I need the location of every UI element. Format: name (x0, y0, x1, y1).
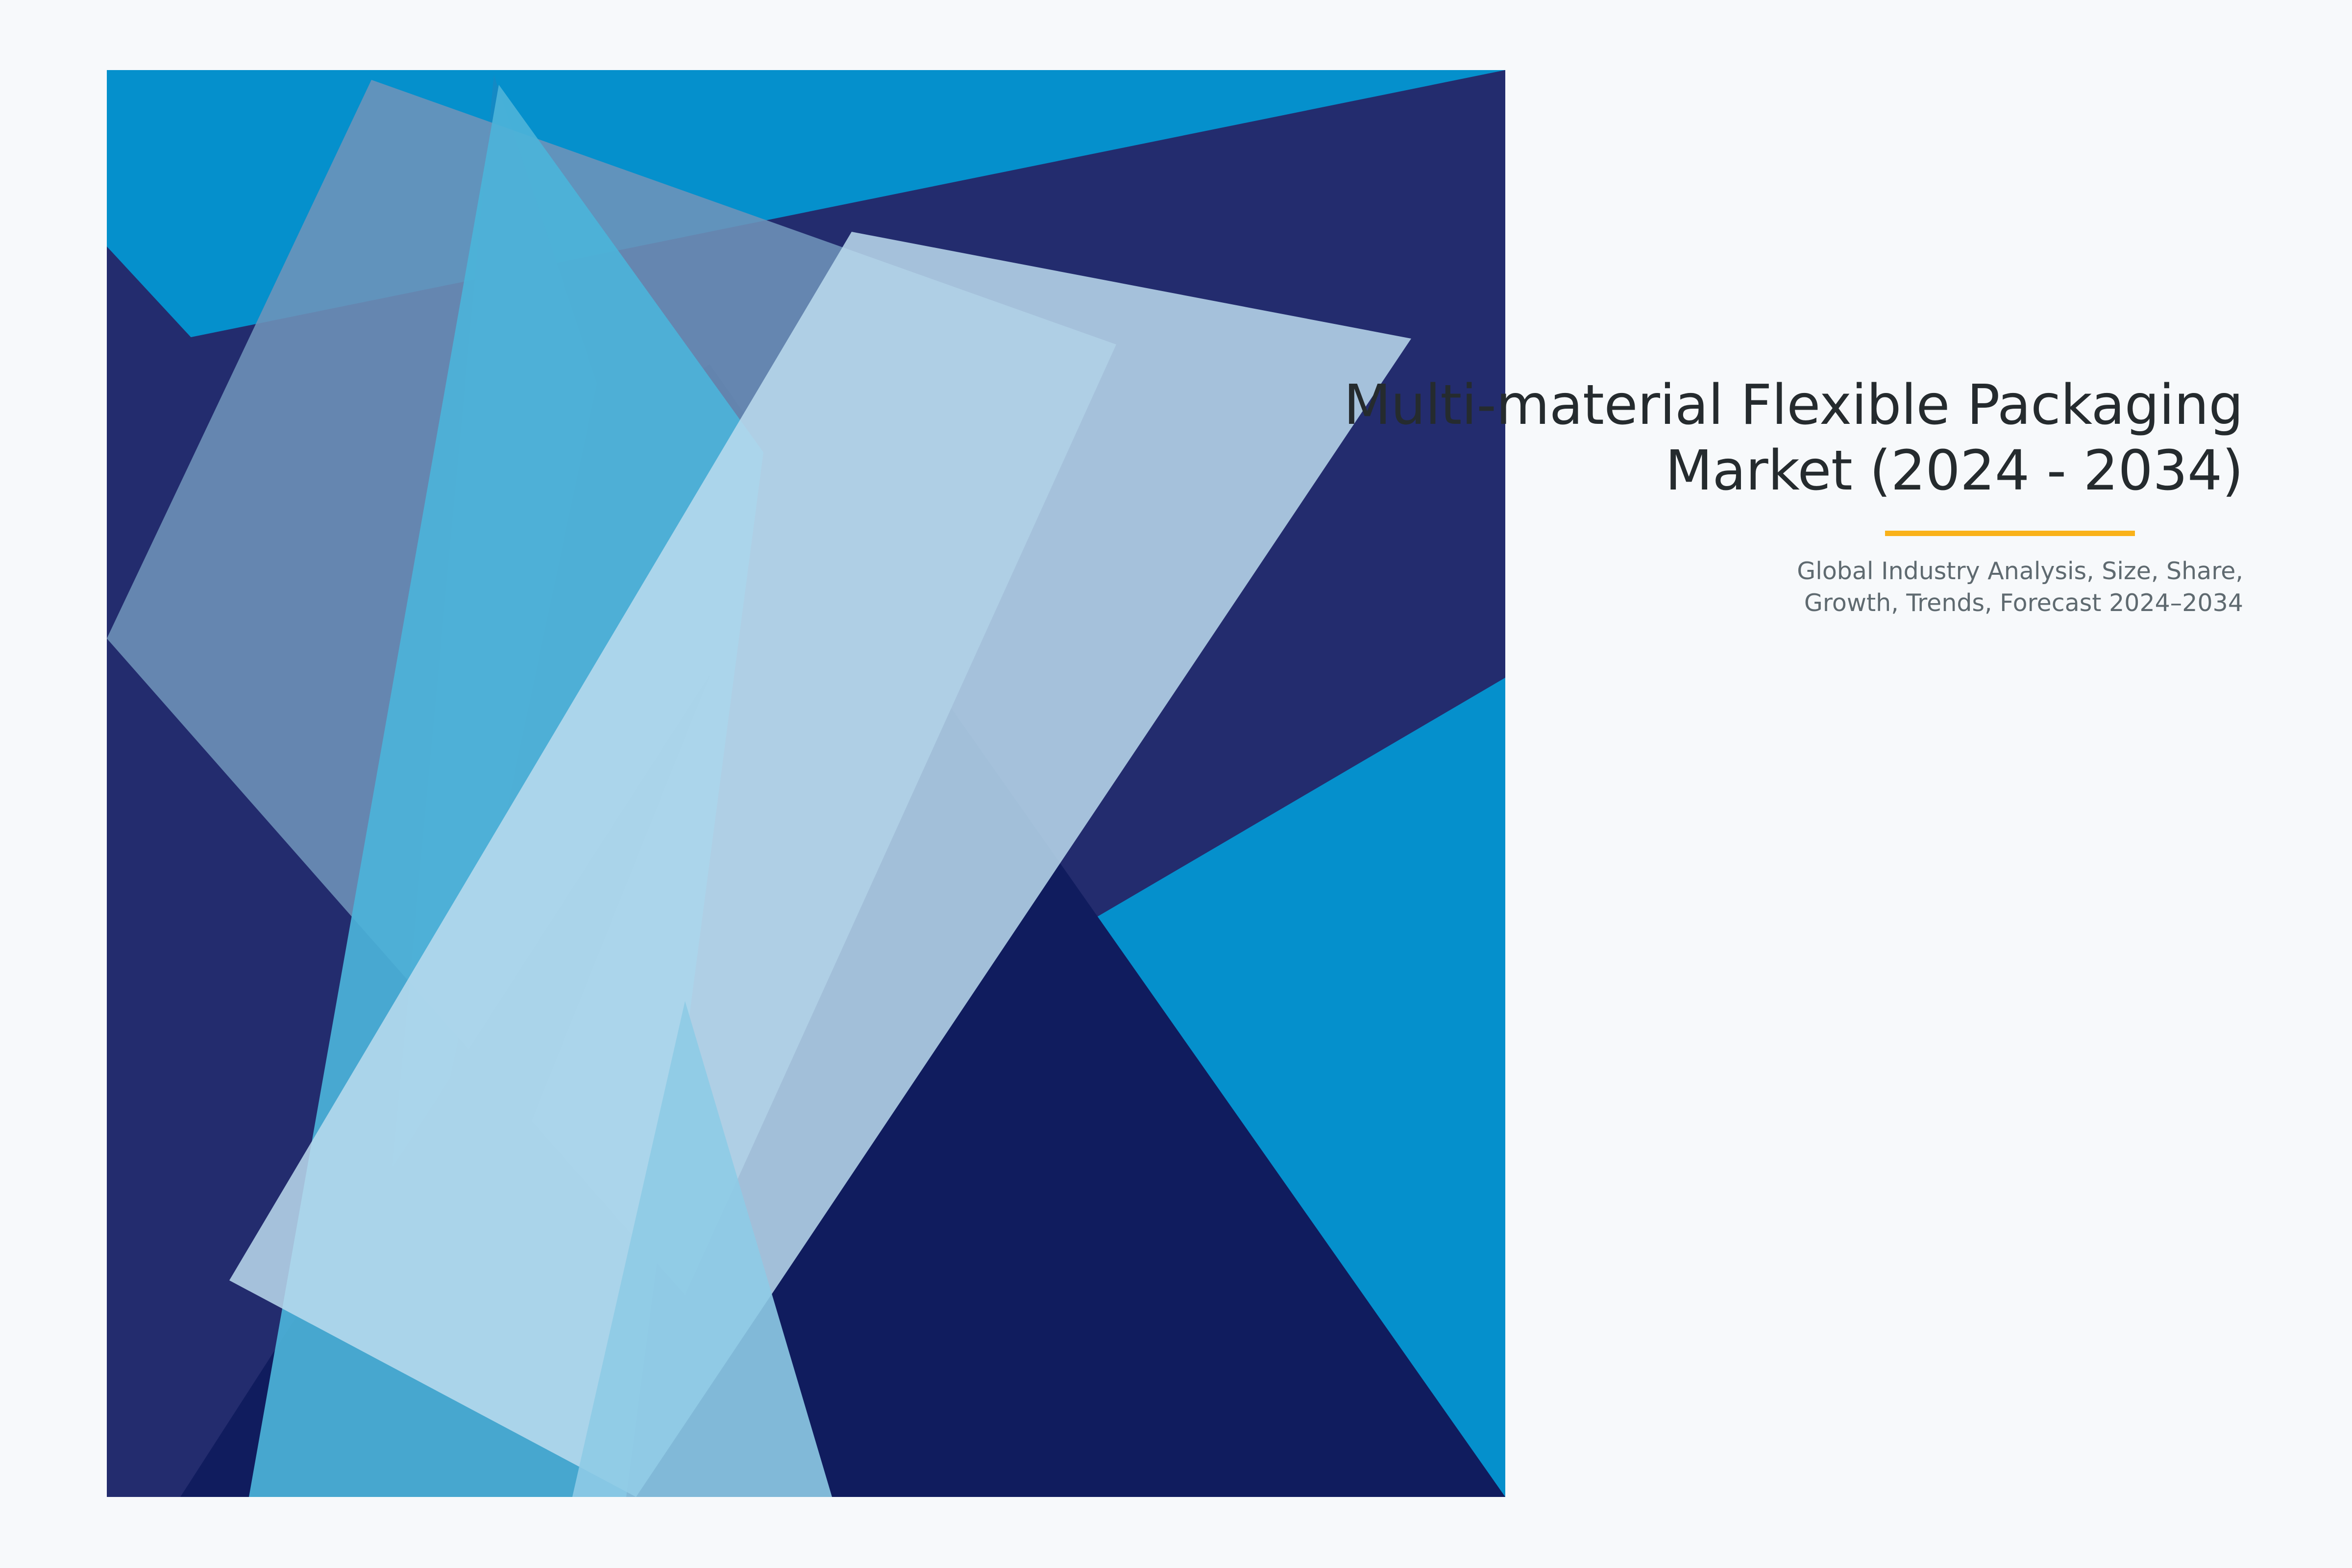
title-wrapper: Multi-material Flexible Packaging Market… (969, 372, 2243, 504)
cover-text-block: Multi-material Flexible Packaging Market… (969, 372, 2243, 619)
cover-graphic-svg (107, 70, 1505, 1497)
title-accent-underline (1885, 531, 2135, 536)
page-subtitle: Global Industry Analysis, Size, Share, G… (969, 504, 2243, 619)
abstract-polygon-cover-graphic (107, 70, 1505, 1497)
polygon-group (107, 70, 1505, 1497)
page-title: Multi-material Flexible Packaging Market… (969, 372, 2243, 504)
report-cover-page: Multi-material Flexible Packaging Market… (0, 0, 2352, 1568)
